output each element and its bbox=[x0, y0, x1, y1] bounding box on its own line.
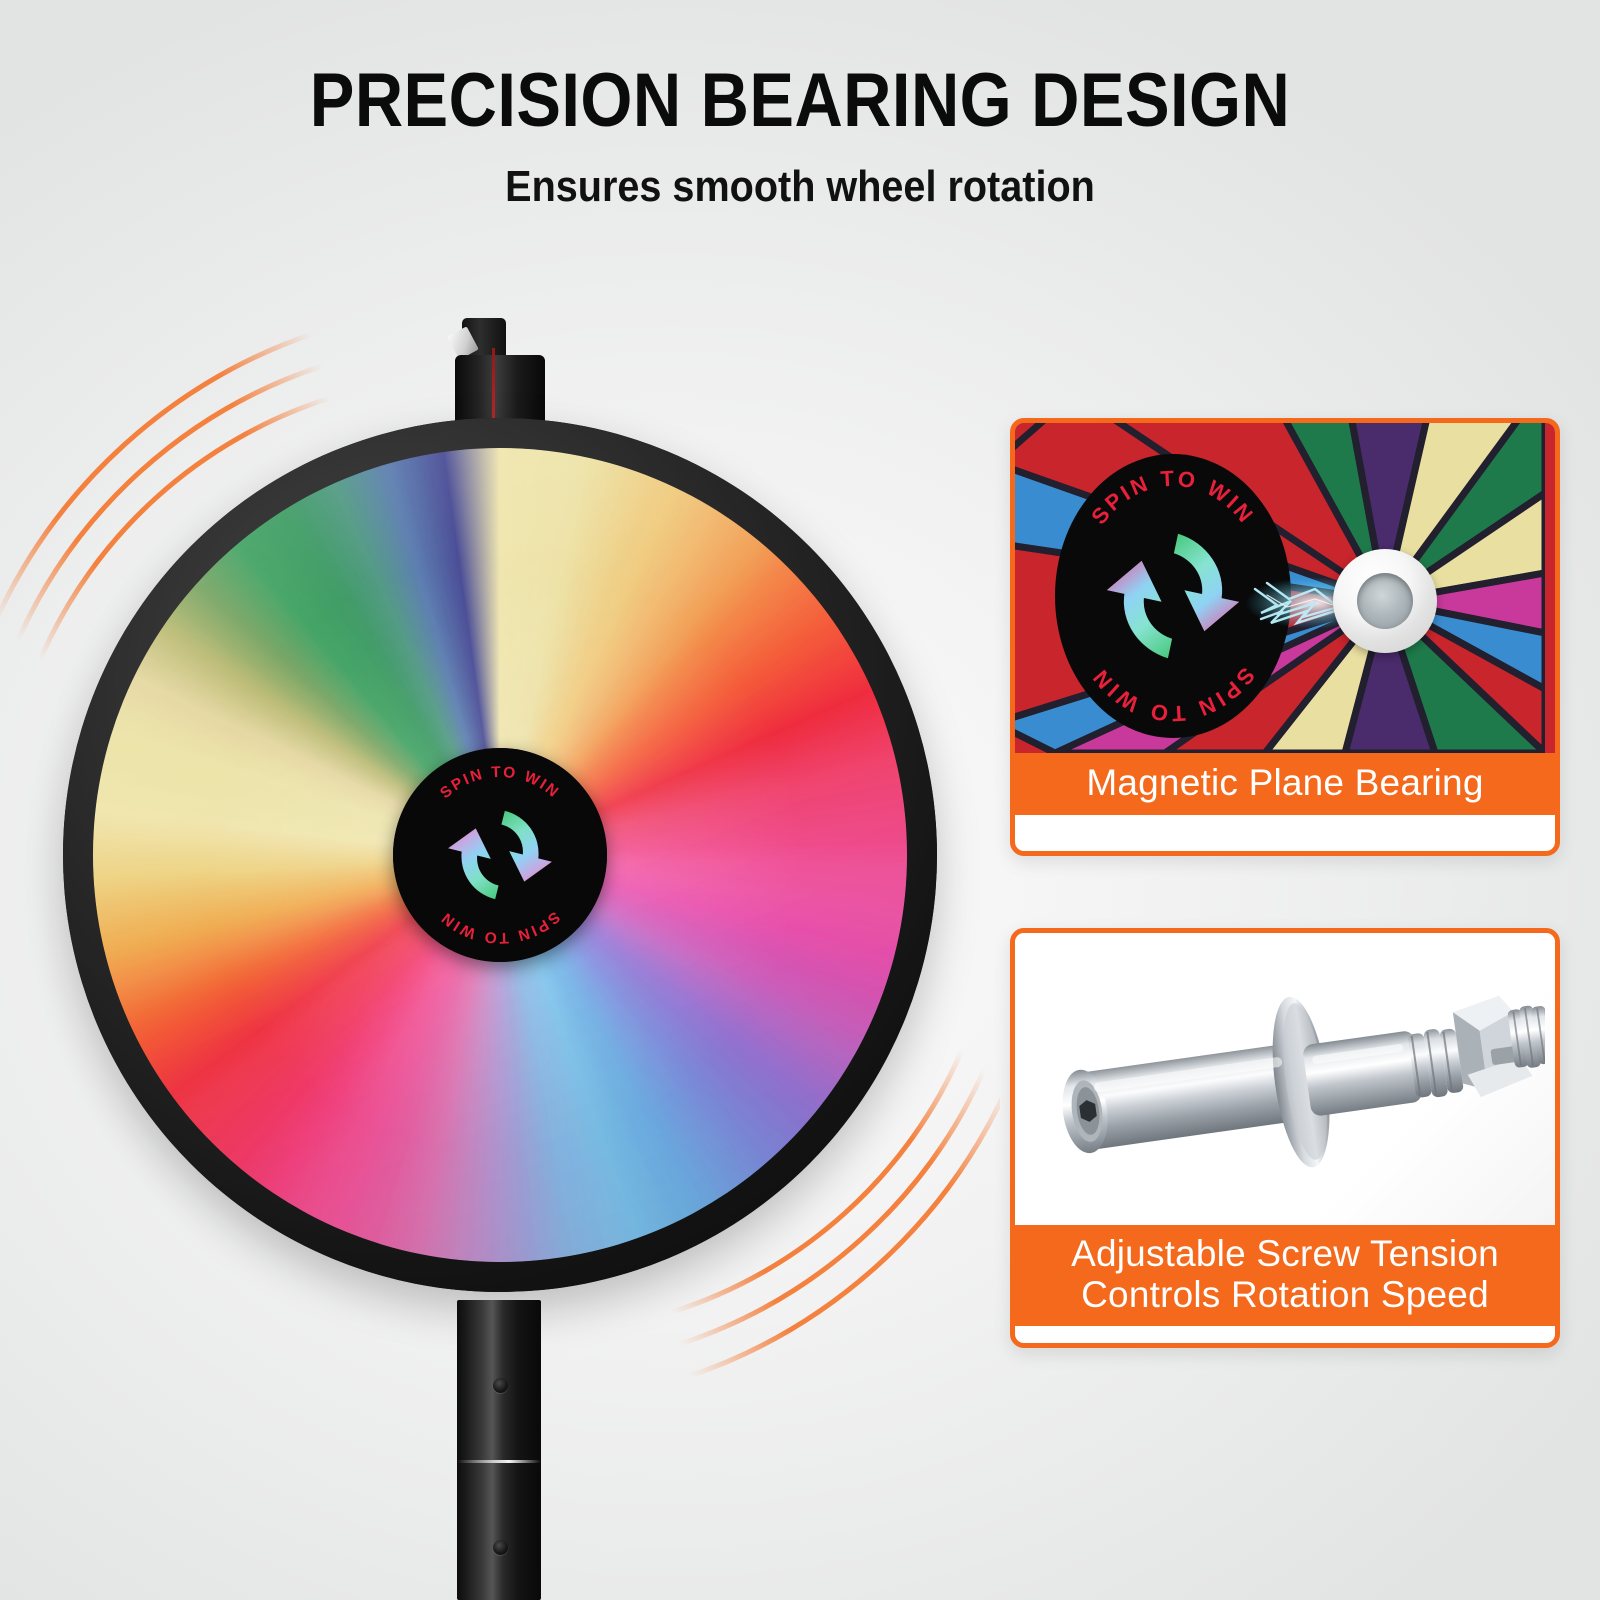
panel-caption-bearing: Magnetic Plane Bearing bbox=[1015, 753, 1555, 815]
panel-magnetic-plane-bearing: SPIN TO WIN SPIN TO WIN bbox=[1010, 418, 1560, 856]
bearing-closeup-photo: SPIN TO WIN SPIN TO WIN bbox=[1015, 423, 1555, 753]
prize-wheel[interactable]: SPIN TO WIN SPIN TO WIN bbox=[63, 418, 937, 1292]
caption-line-2: Controls Rotation Speed bbox=[1021, 1274, 1549, 1315]
product-feature-image: PRECISION BEARING DESIGN Ensures smooth … bbox=[0, 0, 1600, 1600]
stand-seam bbox=[457, 1460, 541, 1463]
prize-wheel-assembly: SPIN TO WIN SPIN TO WIN bbox=[0, 0, 1000, 1600]
wheel-hub: SPIN TO WIN SPIN TO WIN bbox=[393, 748, 607, 962]
panel-caption-screw: Adjustable Screw Tension Controls Rotati… bbox=[1015, 1225, 1555, 1326]
screw-photo bbox=[1015, 933, 1555, 1225]
panel-adjustable-screw-tension: Adjustable Screw Tension Controls Rotati… bbox=[1010, 928, 1560, 1348]
magnetic-bearing-cup bbox=[1333, 549, 1437, 653]
barrel-nut-bolt-icon bbox=[1015, 933, 1545, 1225]
stand-screw-icon-lower bbox=[493, 1540, 508, 1555]
caption-line: Magnetic Plane Bearing bbox=[1021, 762, 1549, 803]
caption-line-1: Adjustable Screw Tension bbox=[1021, 1233, 1549, 1274]
wheel-stand-post bbox=[457, 1300, 541, 1600]
inset-wheel-wedges: SPIN TO WIN SPIN TO WIN bbox=[1015, 423, 1545, 753]
hub-graphic: SPIN TO WIN SPIN TO WIN bbox=[393, 748, 607, 962]
stand-screw-icon-upper bbox=[493, 1378, 508, 1393]
